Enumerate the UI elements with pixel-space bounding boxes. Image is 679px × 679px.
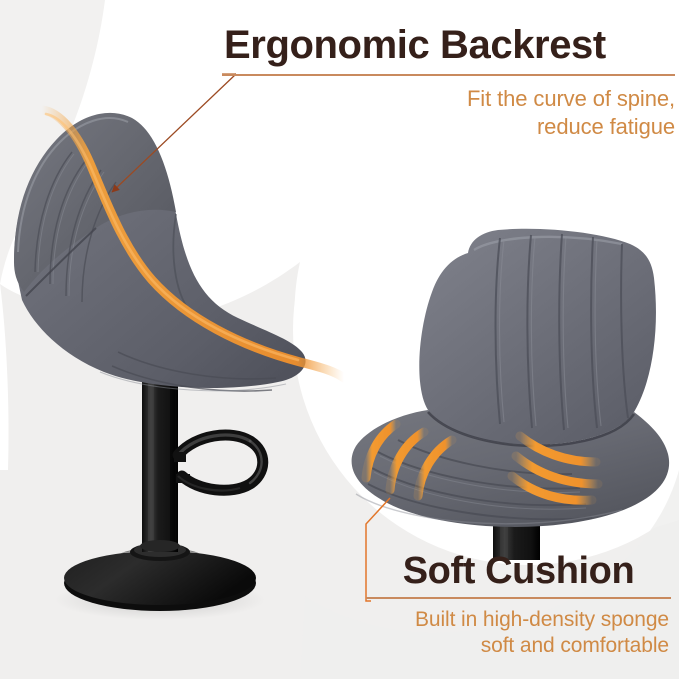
stool-side-view — [14, 110, 344, 620]
backrest-underline — [222, 74, 675, 76]
base-disc — [64, 543, 256, 611]
seat-and-backrest-side — [14, 110, 344, 391]
cushion-title: Soft Cushion — [366, 552, 671, 590]
infographic-canvas: Ergonomic Backrest Fit the curve of spin… — [0, 0, 679, 679]
cushion-subtitle: Built in high-density sponge soft and co… — [366, 607, 671, 661]
stool-seat-closeup — [352, 229, 670, 560]
backrest-subtitle: Fit the curve of spine, reduce fatigue — [222, 85, 679, 141]
callout-soft-cushion: Soft Cushion Built in high-density spong… — [366, 552, 671, 660]
footrest-ring — [174, 435, 263, 490]
callout-ergonomic-backrest: Ergonomic Backrest Fit the curve of spin… — [222, 25, 679, 141]
cushion-underline — [366, 597, 671, 599]
backrest-title: Ergonomic Backrest — [222, 25, 679, 65]
